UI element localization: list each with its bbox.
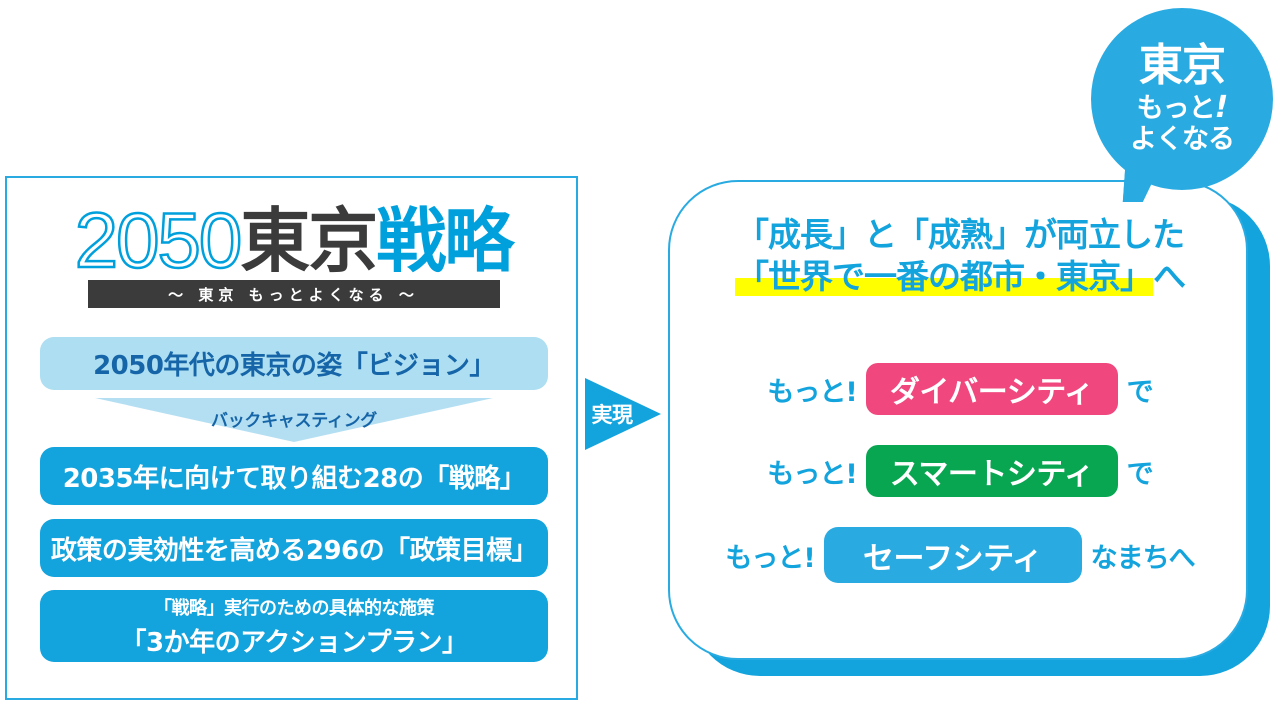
safe-city-motto: もっと! <box>725 536 814 575</box>
backcasting-label: バックキャスティング <box>40 406 548 431</box>
logo-tagline: 〜 東京 もっとよくなる 〜 <box>88 280 500 308</box>
diversity-row: もっと! ダイバーシティ で <box>670 362 1250 416</box>
safe-city-row: もっと! セーフシティ なまちへ <box>670 526 1250 584</box>
smart-city-row: もっと! スマートシティ で <box>670 444 1250 498</box>
bubble-line3: よくなる <box>1130 125 1234 154</box>
logo-wordmark: 2050 東京 戦略 <box>7 200 580 276</box>
strategy-box: 2035年に向けて取り組む28の「戦略」 <box>40 447 548 505</box>
action-plan-box-line2: 「3か年のアクションプラン」 <box>120 622 467 659</box>
right-panel: 「成長」と「成熟」が両立した 「世界で一番の都市・東京」へ もっと! ダイバーシ… <box>668 180 1248 660</box>
plan-logo: 2050 東京 戦略 〜 東京 もっとよくなる 〜 <box>7 200 580 308</box>
vision-statement: 「成長」と「成熟」が両立した 「世界で一番の都市・東京」へ <box>670 214 1250 298</box>
safe-city-suffix: なまちへ <box>1091 536 1195 575</box>
bubble-line2-text: もっと <box>1137 94 1215 123</box>
diversity-suffix: で <box>1127 370 1153 409</box>
realize-arrow: 実現 <box>585 378 661 450</box>
safe-city-pill: セーフシティ <box>824 527 1082 583</box>
bubble-exclamation-icon: ! <box>1215 92 1228 124</box>
bubble-line2: もっと! <box>1137 92 1228 124</box>
policy-goal-box: 政策の実効性を高める296の「政策目標」 <box>40 519 548 577</box>
action-plan-box: 「戦略」実行のための具体的な施策 「3か年のアクションプラン」 <box>40 590 548 662</box>
smart-city-suffix: で <box>1127 452 1153 491</box>
speech-bubble: 東京 もっと! よくなる <box>1091 8 1273 190</box>
logo-strategy: 戦略 <box>376 206 512 276</box>
vision-box: 2050年代の東京の姿「ビジョン」 <box>40 337 548 390</box>
left-panel: 2050 東京 戦略 〜 東京 もっとよくなる 〜 2050年代の東京の姿「ビジ… <box>5 176 578 700</box>
bubble-line1: 東京 <box>1139 44 1225 88</box>
policy-goal-box-label: 政策の実効性を高める296の「政策目標」 <box>51 530 537 567</box>
vision-box-label: 2050年代の東京の姿「ビジョン」 <box>93 345 495 382</box>
logo-tokyo: 東京 <box>240 206 376 276</box>
vision-statement-tail: へ <box>1153 257 1185 296</box>
diversity-pill: ダイバーシティ <box>866 363 1118 415</box>
vision-statement-line2: 「世界で一番の都市・東京」へ <box>670 256 1250 298</box>
smart-city-pill: スマートシティ <box>866 445 1118 497</box>
infographic-canvas: 2050 東京 戦略 〜 東京 もっとよくなる 〜 2050年代の東京の姿「ビジ… <box>0 0 1280 720</box>
vision-statement-highlight: 「世界で一番の都市・東京」 <box>735 257 1153 296</box>
strategy-box-label: 2035年に向けて取り組む28の「戦略」 <box>63 458 526 495</box>
action-plan-box-line1: 「戦略」実行のための具体的な施策 <box>154 594 434 620</box>
vision-statement-line1: 「成長」と「成熟」が両立した <box>670 214 1250 256</box>
diversity-motto: もっと! <box>767 370 856 409</box>
logo-year: 2050 <box>75 201 241 279</box>
smart-city-motto: もっと! <box>767 452 856 491</box>
backcasting-arrow: バックキャスティング <box>40 398 548 446</box>
realize-arrow-label: 実現 <box>588 399 636 429</box>
